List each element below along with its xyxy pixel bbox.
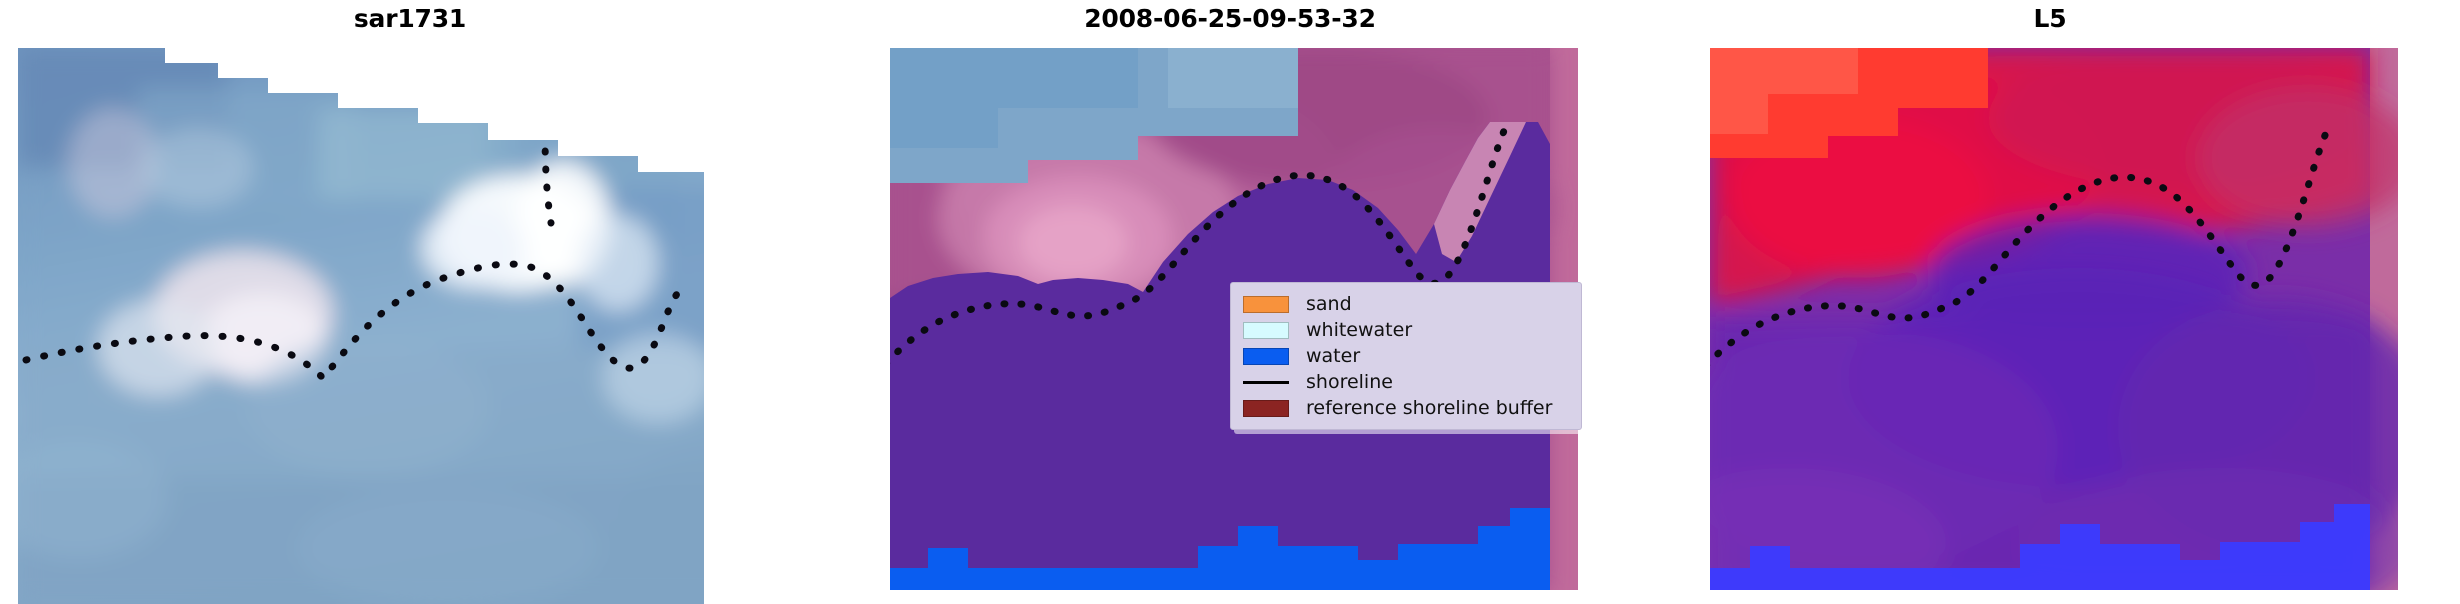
- legend-item-sand: sand: [1243, 291, 1571, 317]
- panel-title-date: 2008-06-25-09-53-32: [820, 4, 1640, 34]
- image-axes-sar: [18, 48, 804, 604]
- sar-image: [18, 48, 804, 604]
- legend-item-whitewater: whitewater: [1243, 317, 1571, 343]
- legend-swatch-reference-buffer: [1243, 400, 1289, 417]
- legend-swatch-whitewater: [1243, 322, 1289, 339]
- panel-date: 2008-06-25-09-53-32: [820, 0, 1640, 604]
- legend: sand whitewater water shoreline referenc…: [1230, 282, 1582, 430]
- legend-label-whitewater: whitewater: [1306, 319, 1412, 341]
- legend-item-shoreline: shoreline: [1243, 369, 1571, 395]
- legend-item-reference-buffer: reference shoreline buffer: [1243, 395, 1571, 421]
- legend-label-shoreline: shoreline: [1306, 371, 1393, 393]
- panel-l5: L5: [1640, 0, 2460, 604]
- legend-swatch-sand: [1243, 296, 1289, 313]
- figure-canvas: sar1731: [0, 0, 2460, 604]
- panel-sar: sar1731: [0, 0, 820, 604]
- legend-label-water: water: [1306, 345, 1360, 367]
- legend-label-sand: sand: [1306, 293, 1352, 315]
- legend-item-water: water: [1243, 343, 1571, 369]
- panel-title-l5: L5: [1640, 4, 2460, 34]
- legend-label-reference-buffer: reference shoreline buffer: [1306, 397, 1552, 419]
- l5-image: [1658, 48, 2444, 604]
- panel-title-sar: sar1731: [0, 4, 820, 34]
- legend-swatch-water: [1243, 348, 1289, 365]
- legend-swatch-shoreline: [1243, 374, 1289, 391]
- image-axes-l5: [1658, 48, 2444, 604]
